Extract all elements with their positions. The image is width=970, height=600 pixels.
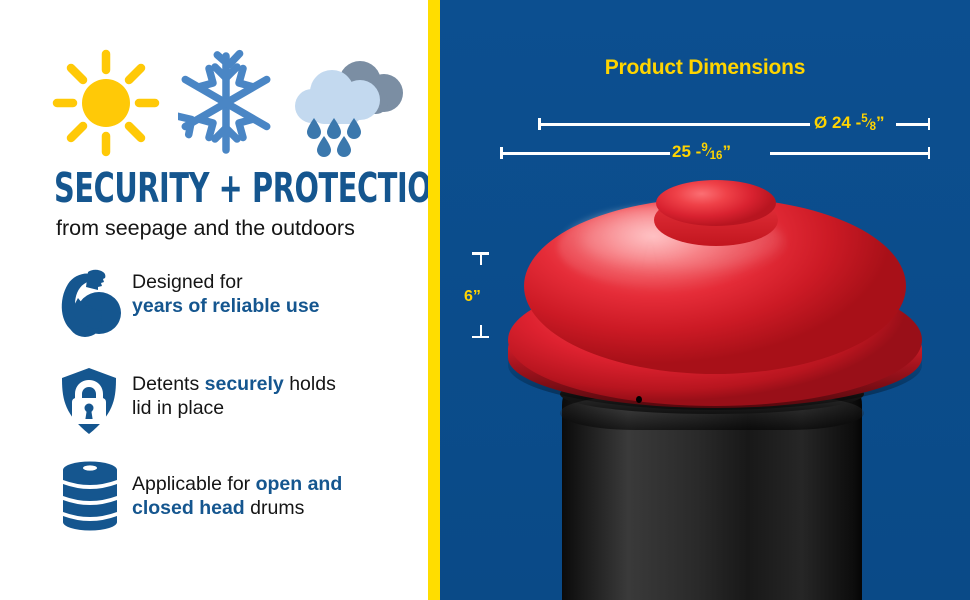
dimension-label-diameter: Ø 24 -5⁄8” [814,114,885,134]
dimensions-title: Product Dimensions [440,56,970,80]
snowflake-icon [178,48,274,158]
dimension-line-diameter: Ø 24 -5⁄8” [538,118,930,130]
feature-bold: securely [205,373,284,395]
feature-text-compatibility: Applicable for open and closed head drum… [128,458,412,520]
rain-cloud-icon [288,48,408,158]
feature-item-security: Detents securely holds lid in place [52,364,412,438]
product-infographic: SECURITY + PROTECTION from seepage and t… [0,0,970,600]
feature-bold-2: closed head [132,497,245,519]
accent-divider [428,0,440,600]
feature-line-1: Designed for [132,271,243,293]
dim-rule-right [896,123,928,126]
feature-item-durability: Designed for years of reliable use [52,268,412,342]
dim-rule-left [502,152,670,155]
feature-pre: Applicable for [132,473,256,495]
feature-post: drums [245,497,305,519]
feature-text-durability: Designed for years of reliable use [128,268,412,318]
product-dimensions-panel: Product Dimensions Ø 24 -5⁄8” 25 -9⁄16” [440,0,970,600]
rain-drops [307,118,361,157]
weather-icon-group [48,48,396,158]
dim-rule-right [770,152,928,155]
feature-line-2: lid in place [132,397,224,419]
dim-tick-bottom [480,325,483,338]
shield-lock-icon [52,364,128,438]
left-panel: SECURITY + PROTECTION from seepage and t… [0,0,428,600]
bicep-icon-wrap [52,268,128,342]
shield-lock-icon-wrap [52,364,128,438]
page-title: SECURITY + PROTECTION [54,166,319,210]
sun-icon [50,48,162,158]
dimension-line-width: 25 -9⁄16” [500,147,930,159]
product-image [486,178,946,600]
dimension-label-height: 6” [464,288,481,305]
feature-list: Designed for years of reliable use [52,268,412,532]
dimension-label-width: 25 -9⁄16” [672,143,731,163]
drum-icon-wrap [52,458,128,532]
page-subtitle: from seepage and the outdoors [56,215,406,241]
feature-line-2-bold: years of reliable use [132,295,320,317]
feature-bold-1: open and [256,473,343,495]
drum-vent-hole [636,396,642,403]
drum-icon [52,458,128,532]
bicep-icon [52,268,128,342]
bung-hole [83,465,97,470]
dim-tick-top [480,252,483,265]
dim-rule-left [540,123,810,126]
feature-text-security: Detents securely holds lid in place [128,364,412,420]
lid-knob [656,180,776,226]
feature-post: holds [284,373,336,395]
feature-item-compatibility: Applicable for open and closed head drum… [52,458,412,532]
feature-pre: Detents [132,373,205,395]
